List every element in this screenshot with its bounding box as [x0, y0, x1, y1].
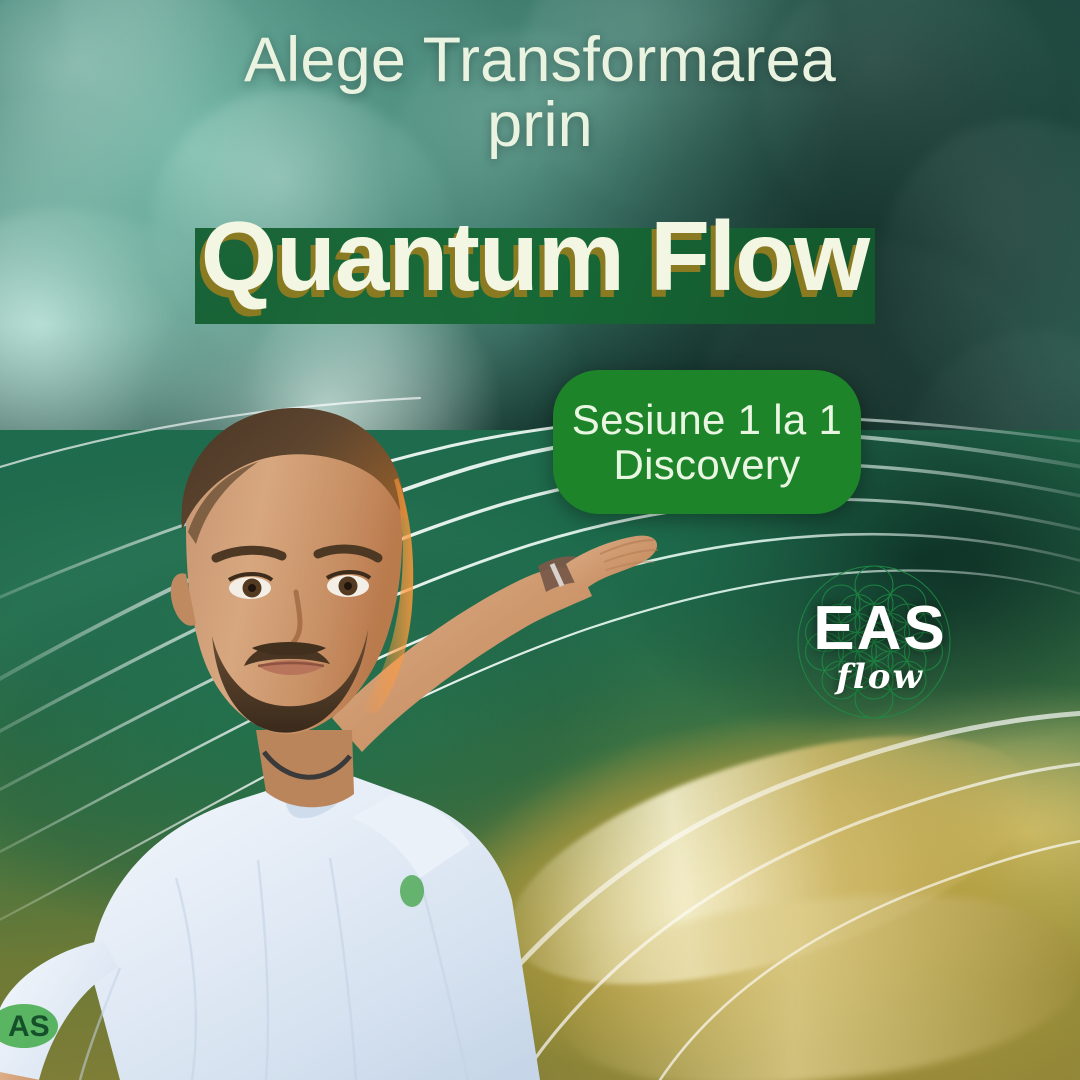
brand-logo[interactable]: EAS flow	[780, 562, 980, 722]
promo-poster: AS	[0, 0, 1080, 1080]
open-palm	[566, 536, 657, 594]
badge-line-2: Discovery	[613, 442, 800, 487]
logo-mark-text: EAS	[780, 598, 980, 660]
headline: Alege Transformarea prin	[0, 28, 1080, 158]
headline-line-2: prin	[0, 93, 1080, 158]
shirt-sleeve-logo: AS	[0, 1004, 58, 1048]
headline-line-1: Alege Transformarea	[244, 25, 836, 95]
svg-text:AS: AS	[8, 1010, 50, 1043]
title-text: Quantum Flow	[195, 207, 875, 305]
badge-line-1: Sesiune 1 la 1	[572, 397, 842, 442]
session-badge[interactable]: Sesiune 1 la 1 Discovery	[553, 370, 861, 514]
white-tshirt	[90, 776, 540, 1080]
logo-wordmark-text: flow	[780, 660, 980, 694]
title-block: Quantum Flow	[195, 228, 875, 324]
